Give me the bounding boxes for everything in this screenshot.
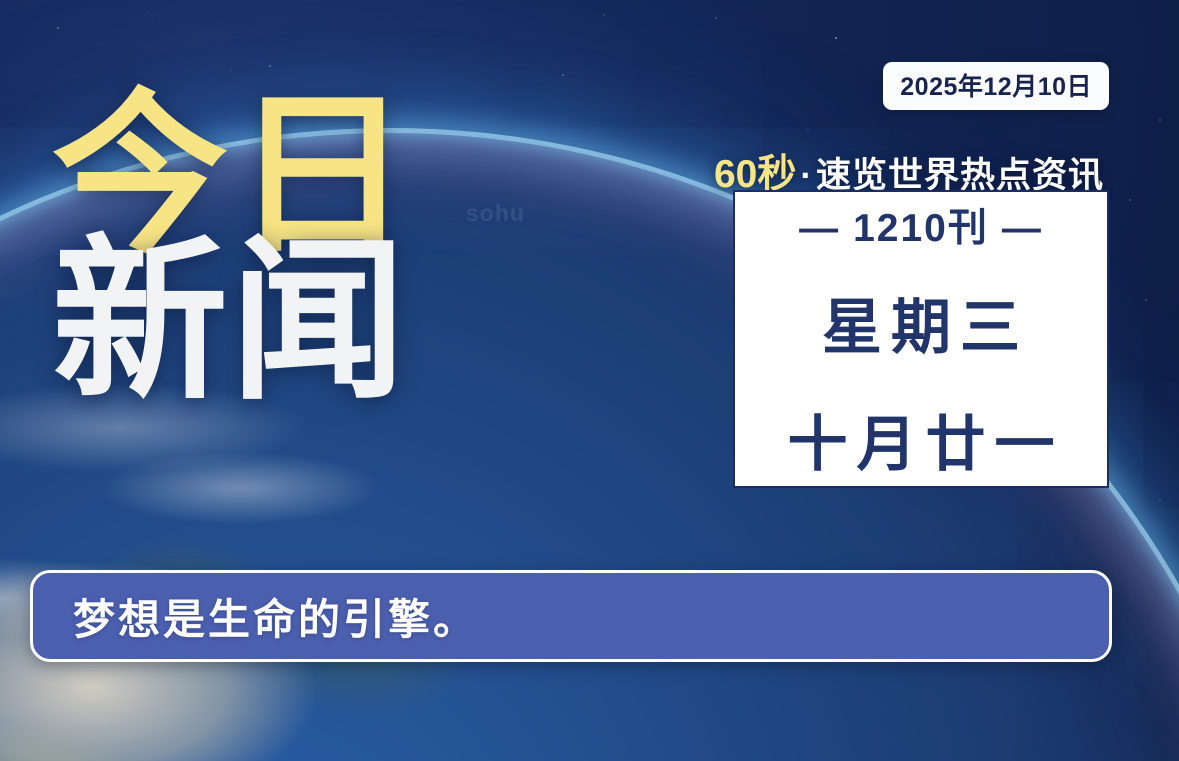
lunar-date-label: 十月廿一 [788,396,1064,483]
issue-number-row: —1210刊— [786,197,1056,253]
issue-dash-left: — [799,207,840,250]
weekday-label: 星期三 [822,279,1029,366]
issue-dash-right: — [1002,207,1043,250]
quote-bar: 梦想是生命的引擎。 [30,570,1112,662]
issue-info-card: —1210刊— 星期三 十月廿一 [733,190,1109,488]
poster-title: 今日 新闻 [52,96,416,404]
news-poster: sohu 今日 新闻 2025年12月10日 60秒·速览世界热点资讯 —121… [0,0,1179,761]
quote-text: 梦想是生命的引擎。 [33,586,478,647]
title-line-xinwen: 新闻 [52,242,416,404]
date-badge: 2025年12月10日 [883,62,1109,110]
issue-number: 1210刊 [853,207,989,250]
